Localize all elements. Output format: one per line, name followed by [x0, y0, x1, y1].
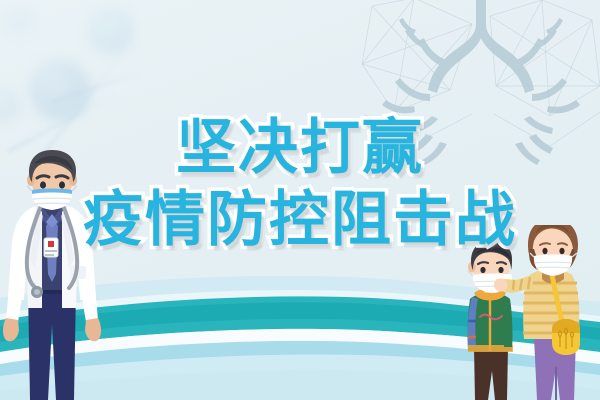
family-group	[452, 225, 600, 400]
poster-canvas: 坚决打赢 疫情防控阻击战	[0, 0, 600, 400]
boy-figure	[468, 241, 513, 400]
doctor-figure	[0, 138, 109, 400]
lungs-icon	[354, 0, 600, 179]
